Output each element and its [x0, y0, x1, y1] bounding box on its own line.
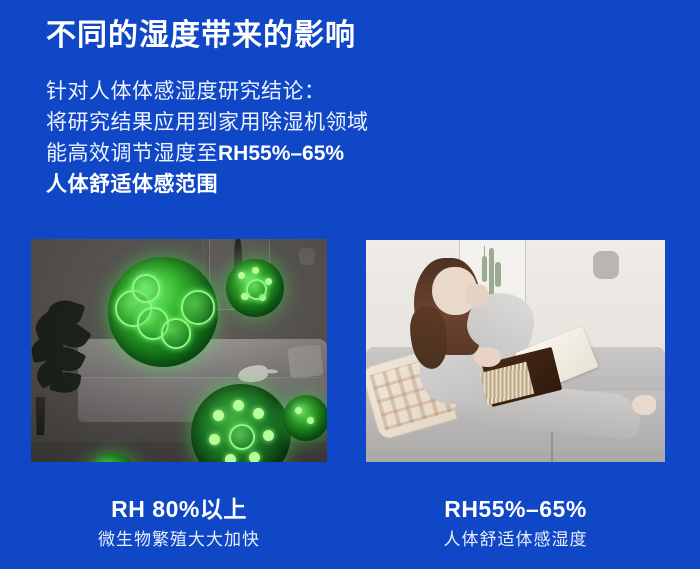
- caption-subtitle: 人体舒适体感湿度: [366, 527, 665, 553]
- body-line-2: 将研究结果应用到家用除湿机领域: [46, 107, 369, 138]
- caption-high-humidity: RH 80%以上 微生物繁殖大大加快: [31, 494, 327, 553]
- microbe-nodule: [161, 318, 191, 348]
- microbe-dot: [252, 267, 259, 274]
- person-foot: [632, 395, 656, 415]
- page-title: 不同的湿度带来的影响: [46, 18, 356, 54]
- microbe-dot: [209, 434, 220, 445]
- body-line-4: 人体舒适体感范围: [46, 169, 369, 200]
- caption-comfort-humidity: RH55%–65% 人体舒适体感湿度: [366, 494, 665, 553]
- microbe-dot: [238, 272, 246, 280]
- wall-speaker-icon: [593, 251, 619, 279]
- microbe-dot: [213, 410, 224, 421]
- humidity-range-emphasis: RH55%–65%: [218, 142, 344, 165]
- photo-comfort-humidity: [366, 240, 665, 462]
- microbe-dot: [307, 417, 314, 424]
- microbe-dot: [253, 408, 264, 419]
- microbe-nodule: [181, 290, 216, 325]
- caption-title: RH55%–65%: [366, 494, 665, 524]
- microbe-nodule: [229, 424, 255, 450]
- microbe-dot: [249, 452, 260, 462]
- microbe-icon: [108, 257, 218, 367]
- caption-title: RH 80%以上: [31, 494, 327, 524]
- body-line-1: 针对人体体感湿度研究结论：: [46, 76, 369, 107]
- microbe-dot: [295, 407, 302, 414]
- microbe-dot: [263, 430, 274, 441]
- caption-subtitle: 微生物繁殖大大加快: [31, 527, 327, 553]
- photo-high-humidity-scene: [31, 239, 327, 462]
- microbe-icon: [283, 395, 327, 441]
- body-line-3-prefix: 能高效调节湿度至: [46, 142, 218, 165]
- person-hand: [474, 347, 501, 367]
- person-hand: [465, 284, 489, 306]
- body-line-3: 能高效调节湿度至RH55%–65%: [46, 138, 369, 169]
- microbe-dot: [225, 454, 236, 462]
- microbe-dot: [233, 400, 244, 411]
- body-copy: 针对人体体感湿度研究结论： 将研究结果应用到家用除湿机领域 能高效调节湿度至RH…: [46, 76, 369, 200]
- photo-high-humidity: [31, 239, 327, 462]
- slide-root: 不同的湿度带来的影响 针对人体体感湿度研究结论： 将研究结果应用到家用除湿机领域…: [0, 0, 700, 569]
- microbe-nodule: [132, 274, 160, 302]
- photo-comfort-humidity-scene: [366, 240, 665, 462]
